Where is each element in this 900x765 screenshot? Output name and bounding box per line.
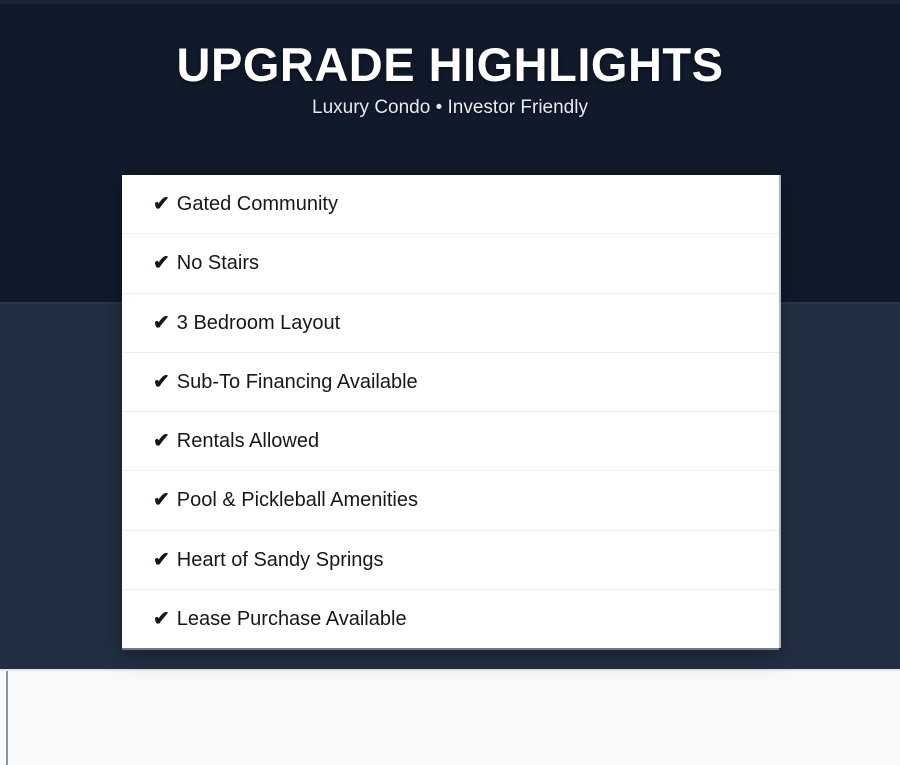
list-item: ✔ Heart of Sandy Springs [122, 531, 779, 590]
list-item-label: 3 Bedroom Layout [177, 311, 340, 335]
highlights-card: ✔ Gated Community ✔ No Stairs ✔ 3 Bedroo… [122, 175, 779, 648]
list-item-label: Rentals Allowed [177, 429, 319, 453]
list-item-label: No Stairs [177, 251, 259, 275]
check-icon: ✔ [153, 490, 170, 510]
check-icon: ✔ [153, 194, 170, 214]
list-item: ✔ Lease Purchase Available [122, 590, 779, 648]
slide-header: UPGRADE HIGHLIGHTS Luxury Condo • Invest… [0, 38, 900, 120]
list-item-label: Sub-To Financing Available [177, 370, 418, 394]
list-item-label: Lease Purchase Available [177, 607, 407, 631]
footer-divider [0, 669, 900, 671]
slide-canvas: UPGRADE HIGHLIGHTS Luxury Condo • Invest… [0, 0, 900, 765]
check-icon: ✔ [153, 372, 170, 392]
check-icon: ✔ [153, 609, 170, 629]
list-item: ✔ Pool & Pickleball Amenities [122, 471, 779, 530]
list-item-label: Gated Community [177, 192, 338, 216]
list-item: ✔ Rentals Allowed [122, 412, 779, 471]
background-band-footer [0, 669, 900, 765]
list-item-label: Heart of Sandy Springs [177, 548, 384, 572]
list-item-label: Pool & Pickleball Amenities [177, 488, 418, 512]
list-item: ✔ 3 Bedroom Layout [122, 294, 779, 353]
list-item: ✔ No Stairs [122, 234, 779, 293]
footer-left-edge [6, 671, 8, 765]
list-item: ✔ Gated Community [122, 175, 779, 234]
list-item: ✔ Sub-To Financing Available [122, 353, 779, 412]
check-icon: ✔ [153, 431, 170, 451]
check-icon: ✔ [153, 313, 170, 333]
page-subtitle: Luxury Condo • Investor Friendly [0, 96, 900, 120]
page-title: UPGRADE HIGHLIGHTS [0, 38, 900, 92]
check-icon: ✔ [153, 550, 170, 570]
check-icon: ✔ [153, 253, 170, 273]
